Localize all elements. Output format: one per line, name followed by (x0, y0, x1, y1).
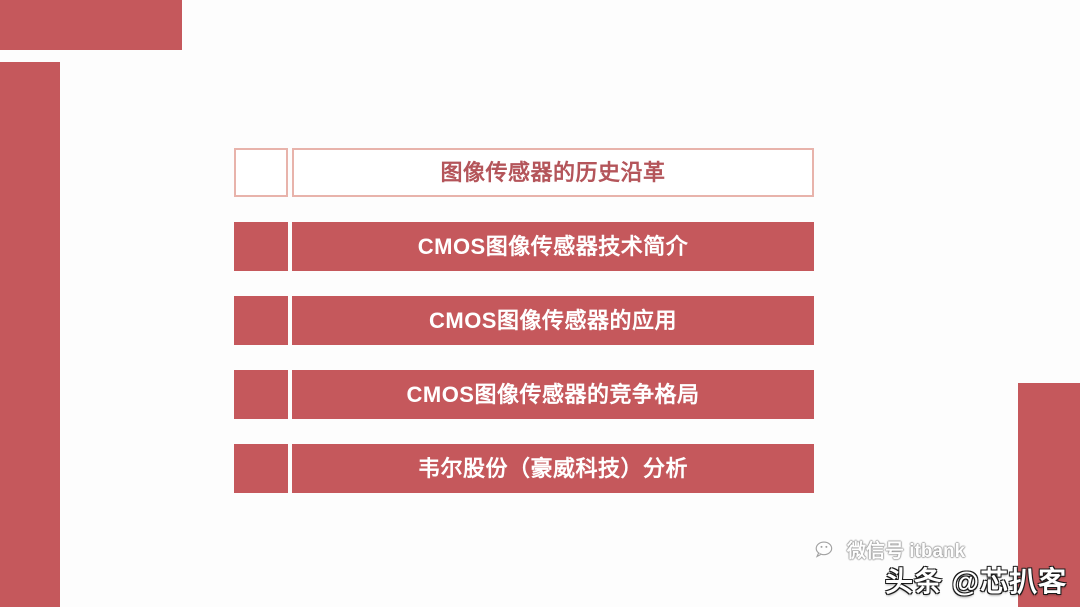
agenda-row-5-marker (234, 444, 288, 493)
agenda-row-1[interactable]: 图像传感器的历史沿革 (234, 148, 814, 197)
presentation-slide: 图像传感器的历史沿革 CMOS图像传感器技术简介 CMOS图像传感器的应用 CM… (0, 0, 1080, 607)
agenda-row-2[interactable]: CMOS图像传感器技术简介 (234, 222, 814, 271)
agenda-row-3-bar[interactable]: CMOS图像传感器的应用 (292, 296, 814, 345)
agenda-row-4-marker (234, 370, 288, 419)
agenda-row-3-label: CMOS图像传感器的应用 (429, 310, 677, 332)
agenda-row-5[interactable]: 韦尔股份（豪威科技）分析 (234, 444, 814, 493)
decor-left-vertical-bar (0, 62, 60, 607)
agenda-row-4-label: CMOS图像传感器的竞争格局 (406, 384, 699, 406)
decor-bottom-right-bar (1018, 383, 1080, 607)
agenda-list: 图像传感器的历史沿革 CMOS图像传感器技术简介 CMOS图像传感器的应用 CM… (234, 148, 814, 493)
agenda-row-2-marker (234, 222, 288, 271)
agenda-row-1-bar[interactable]: 图像传感器的历史沿革 (292, 148, 814, 197)
wechat-watermark-text: 微信号 itbank (847, 536, 965, 563)
decor-top-left-bar (0, 0, 182, 50)
agenda-row-4[interactable]: CMOS图像传感器的竞争格局 (234, 370, 814, 419)
agenda-row-2-bar[interactable]: CMOS图像传感器技术简介 (292, 222, 814, 271)
agenda-row-5-label: 韦尔股份（豪威科技）分析 (418, 458, 688, 480)
wechat-watermark: 微信号 itbank (815, 536, 965, 563)
agenda-row-5-bar[interactable]: 韦尔股份（豪威科技）分析 (292, 444, 814, 493)
agenda-row-1-label: 图像传感器的历史沿革 (440, 162, 665, 184)
agenda-row-1-marker (234, 148, 288, 197)
agenda-row-4-bar[interactable]: CMOS图像传感器的竞争格局 (292, 370, 814, 419)
wechat-icon (815, 540, 841, 560)
agenda-row-2-label: CMOS图像传感器技术简介 (418, 236, 689, 258)
agenda-row-3-marker (234, 296, 288, 345)
agenda-row-3[interactable]: CMOS图像传感器的应用 (234, 296, 814, 345)
